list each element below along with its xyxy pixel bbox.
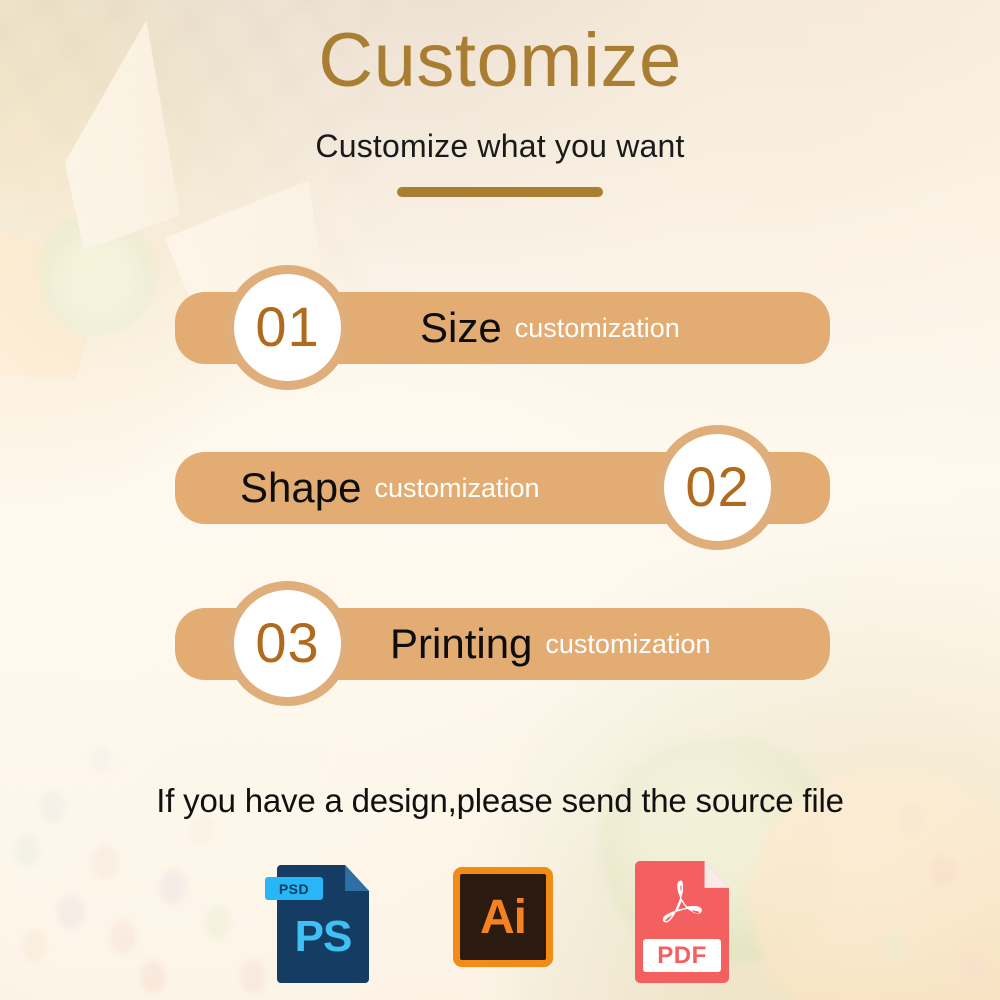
title-divider <box>397 187 603 197</box>
feature-number-1: 01 <box>255 299 319 355</box>
ai-icon-box: Ai <box>453 867 553 967</box>
feature-keyword-2: Shape <box>240 464 361 512</box>
feature-text-1: Size customization <box>420 292 680 364</box>
feature-badge-2: 02 <box>655 425 780 550</box>
psd-ps-label: PS <box>277 907 369 967</box>
psd-file-icon: PSD PS <box>265 855 375 985</box>
psd-extension-tag: PSD <box>265 877 323 900</box>
feature-keyword-3: Printing <box>390 620 532 668</box>
feature-text-3: Printing customization <box>390 608 710 680</box>
page-title: Customize <box>0 20 1000 102</box>
ai-label: Ai <box>480 890 526 945</box>
feature-row-3[interactable]: Printing customization 03 <box>175 608 830 680</box>
feature-number-3: 03 <box>255 615 319 671</box>
feature-badge-3: 03 <box>225 581 350 706</box>
feature-number-2: 02 <box>685 459 749 515</box>
feature-badge-1: 01 <box>225 265 350 390</box>
file-format-icons: PSD PS Ai PDF <box>0 855 1000 990</box>
source-file-note: If you have a design,please send the sou… <box>0 782 1000 820</box>
customize-poster: Customize Customize what you want Size c… <box>0 0 1000 1000</box>
psd-extension-label: PSD <box>279 881 309 897</box>
feature-sub-3: customization <box>545 629 710 660</box>
poster-content: Customize Customize what you want Size c… <box>0 0 1000 1000</box>
feature-keyword-1: Size <box>420 304 502 352</box>
acrobat-a-icon <box>655 877 711 933</box>
feature-sub-1: customization <box>515 313 680 344</box>
feature-row-1[interactable]: Size customization 01 <box>175 292 830 364</box>
pdf-label: PDF <box>657 942 707 970</box>
page-subtitle: Customize what you want <box>0 128 1000 165</box>
feature-sub-2: customization <box>374 473 539 504</box>
feature-text-2: Shape customization <box>240 452 540 524</box>
ai-file-icon: Ai <box>445 855 555 985</box>
pdf-file-icon: PDF <box>625 855 735 985</box>
feature-row-2[interactable]: Shape customization 02 <box>175 452 830 524</box>
pdf-label-band: PDF <box>643 939 721 972</box>
